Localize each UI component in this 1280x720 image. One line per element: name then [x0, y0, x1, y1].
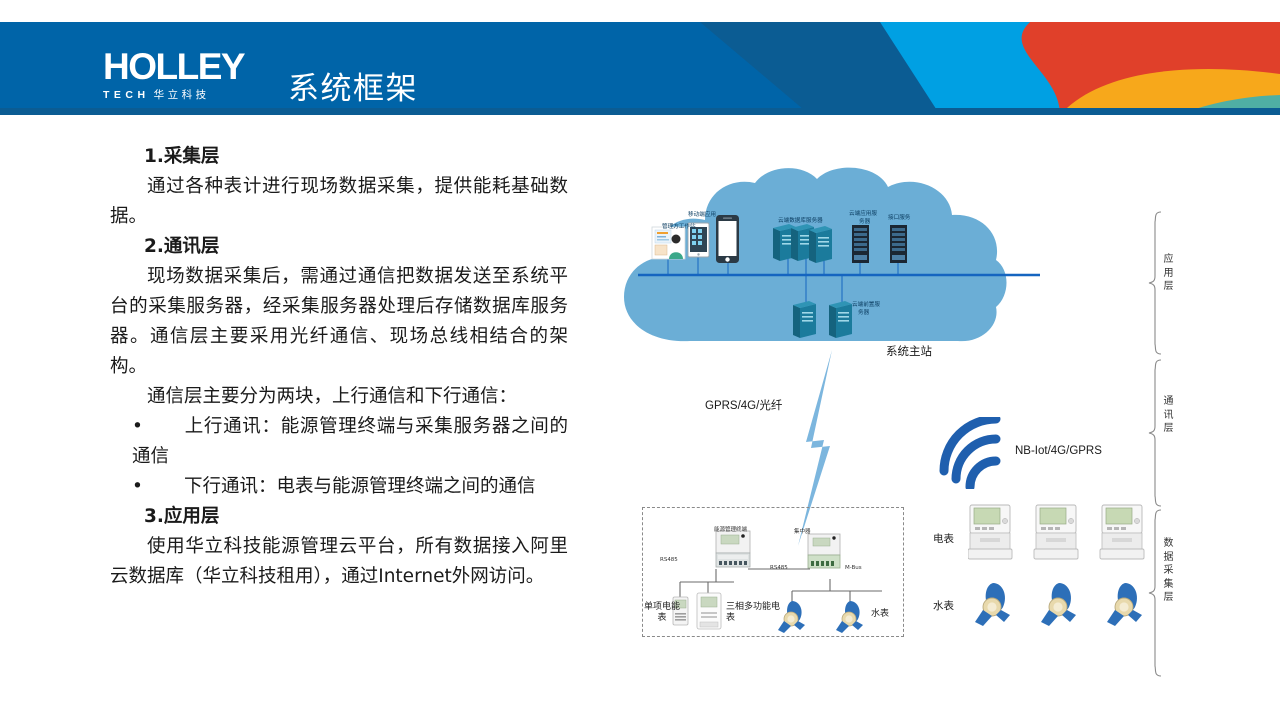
field-label-rs485-b: RS485: [770, 565, 788, 571]
cloud-platform-graphic: [610, 165, 1060, 355]
energy-management-terminal: [716, 531, 750, 567]
bracket-label-communication-layer: 通讯层: [1162, 395, 1175, 436]
section-heading-1: 1.采集层: [110, 142, 568, 172]
bracket-label-application-layer: 应用层: [1162, 253, 1175, 294]
cloud-application-server: [852, 225, 869, 263]
water-meter-device-2: [836, 601, 863, 633]
wireless-signal-icon: [938, 417, 1010, 489]
cloud-label-mobile-app: 移动端应用: [688, 212, 716, 219]
slide-root: HOLLEY TECH 华立科技 系统框架 1.采集层 通过各种表计进行现场数据…: [0, 0, 1280, 720]
water-meter-bank-2: [1041, 583, 1076, 626]
cloud-label-database-server: 云端数据库服务器: [778, 218, 823, 225]
section-body-2: 现场数据采集后，需通过通信把数据发送至系统平台的采集服务器，经采集服务器处理后存…: [110, 262, 568, 382]
electric-meter-2: [1034, 505, 1078, 559]
field-label-rs485-a: RS485: [660, 557, 678, 563]
section-body-1: 通过各种表计进行现场数据采集，提供能耗基础数据。: [110, 172, 568, 232]
water-meter-bank-1: [975, 583, 1010, 626]
section-body-3: 使用华立科技能源管理云平台，所有数据接入阿里云数据库（华立科技租用），通过Int…: [110, 532, 568, 592]
bullet-item-uplink: •上行通讯：能源管理终端与采集服务器之间的通信: [110, 412, 568, 472]
section-heading-3: 3.应用层: [110, 502, 568, 532]
interface-service-server: [890, 225, 907, 263]
header-bottom-strip: [0, 108, 1280, 115]
comm-intro-paragraph: 通信层主要分为两块，上行通信和下行通信：: [110, 382, 568, 412]
electric-meter-1: [968, 505, 1012, 559]
field-label-terminal: 能源管理终端: [714, 525, 747, 533]
bracket-label-data-collection-layer: 数据采集层: [1162, 537, 1175, 605]
cloud-database-servers: [773, 224, 832, 263]
concentrator-device: [808, 534, 840, 568]
bullet-item-downlink: •下行通讯：电表与能源管理终端之间的通信: [110, 472, 568, 502]
holley-logo: HOLLEY TECH 华立科技: [103, 48, 255, 104]
content-text-column: 1.采集层 通过各种表计进行现场数据采集，提供能耗基础数据。 2.通讯层 现场数…: [110, 142, 568, 592]
electric-meter-3: [1100, 505, 1144, 559]
cloud-label-workstation: 管理方工作站: [662, 224, 696, 231]
section-heading-2: 2.通讯层: [110, 232, 568, 262]
field-label-water-meter: 水表: [868, 609, 892, 620]
workstation-illustration: [652, 227, 685, 259]
logo-subtitle: TECH 华立科技: [103, 87, 255, 102]
system-architecture-diagram: 管理方工作站 移动端应用 云端数据库服务器 云端应用服 务器 接口服务 云端前置…: [600, 125, 1280, 700]
bullet-text-1: 上行通讯：能源管理终端与采集服务器之间的通信: [132, 416, 568, 467]
cloud-label-front-server-line1: 云端前置服: [852, 302, 880, 309]
water-meter-bank-3: [1107, 583, 1142, 626]
cloud-label-front-server-line2: 务器: [858, 310, 869, 317]
bullet-marker-1: •: [132, 412, 184, 442]
smartphone-illustration: [716, 215, 739, 263]
slide-header: HOLLEY TECH 华立科技 系统框架: [0, 22, 1280, 115]
uplink-transport-label: GPRS/4G/光纤: [705, 397, 782, 413]
logo-wordmark: HOLLEY: [103, 48, 255, 86]
meter-bank-graphic: [968, 503, 1158, 643]
bullet-text-2: 下行通讯：电表与能源管理终端之间的通信: [184, 476, 536, 497]
three-phase-meter-device: [697, 593, 721, 629]
field-label-mbus: M-Bus: [845, 565, 862, 571]
wireless-transport-label: NB-Iot/4G/GPRS: [1015, 445, 1102, 457]
field-label-three-phase-meter: 三相多功能电表: [726, 602, 788, 624]
logo-tech-text: TECH: [103, 89, 150, 101]
field-label-concentrator: 集中器: [794, 527, 811, 535]
logo-chinese-text: 华立科技: [154, 87, 210, 102]
bullet-marker-2: •: [132, 472, 184, 502]
cloud-label-interface-service: 接口服务: [888, 215, 910, 222]
cloud-label-app-server-line1: 云端应用服: [849, 211, 877, 218]
row-label-electric-meters: 电表: [933, 531, 954, 546]
cloud-label-app-server-line2: 务器: [859, 219, 870, 226]
field-label-single-phase-meter: 单项电能表: [644, 602, 680, 624]
page-title: 系统框架: [288, 63, 418, 108]
system-master-station-label: 系统主站: [886, 343, 932, 359]
row-label-water-meters: 水表: [933, 598, 954, 613]
